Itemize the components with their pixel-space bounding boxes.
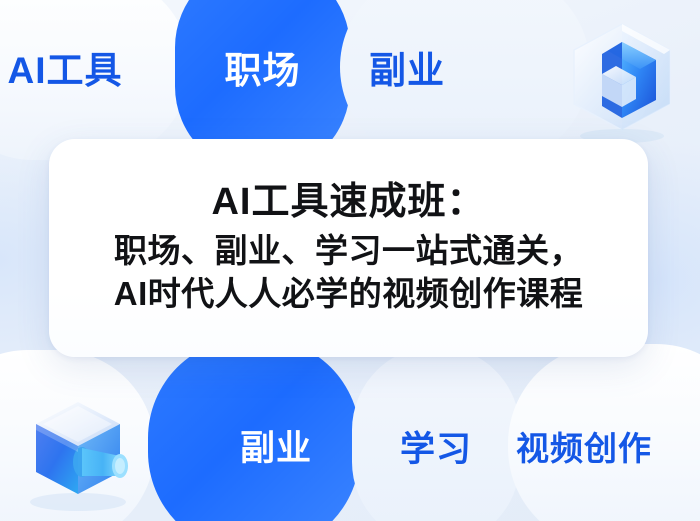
tag-pill-side-hustle-bottom[interactable]: 副业 <box>148 338 360 521</box>
tag-label-ai-tools: AI工具 <box>8 40 123 94</box>
tag-pill-study[interactable]: 学习 <box>352 346 520 521</box>
headline-card: AI工具速成班： 职场、副业、学习一站式通关， AI时代人人必学的视频创作课程 <box>49 139 648 357</box>
tag-label-side-hustle-top: 副业 <box>369 40 445 94</box>
card-title: AI工具速成班： <box>211 180 485 225</box>
tag-label-workplace: 职场 <box>225 40 301 94</box>
tag-label-study: 学习 <box>400 421 472 472</box>
glass-hexagon-cube-icon <box>552 8 692 148</box>
tag-pill-ai-tools[interactable]: AI工具 <box>0 0 190 160</box>
promo-poster: AI工具 职场 副业 <box>0 0 700 521</box>
tag-pill-video-creation[interactable]: 视频创作 <box>508 344 700 521</box>
card-subtitle-line-1: 职场、副业、学习一站式通关， <box>114 229 583 273</box>
tag-label-video-creation: 视频创作 <box>516 422 652 470</box>
tag-label-side-hustle-bottom: 副业 <box>240 420 312 471</box>
card-subtitle-line-2: AI时代人人必学的视频创作课程 <box>114 272 584 316</box>
blue-cube-plug-icon <box>16 392 144 516</box>
